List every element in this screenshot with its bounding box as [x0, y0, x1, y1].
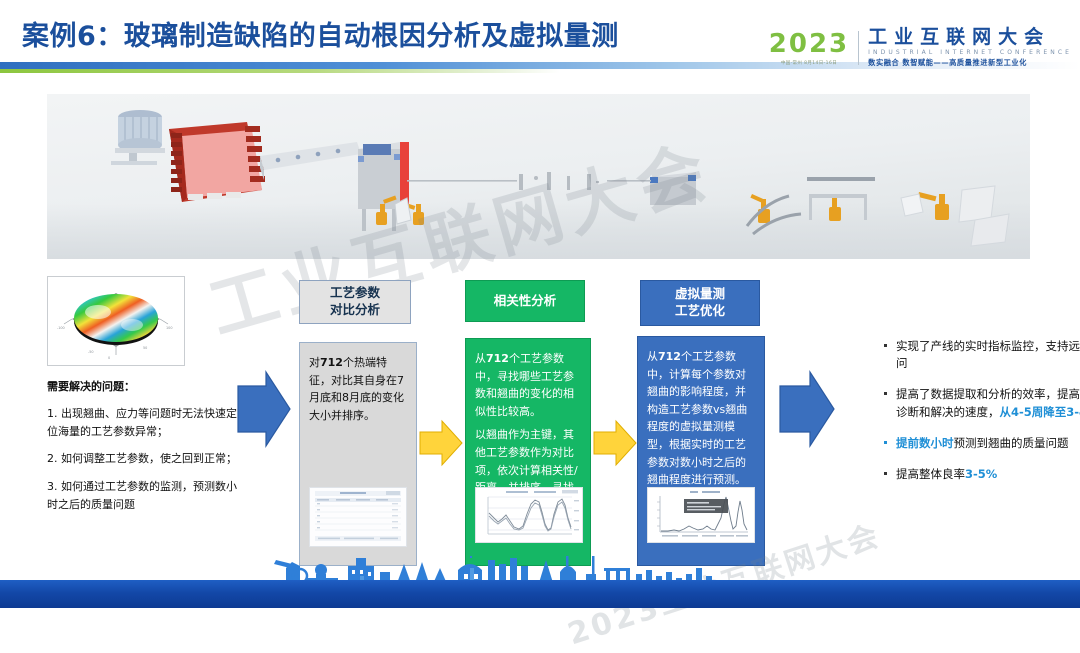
- step3-header: 虚拟量测 工艺优化: [640, 280, 760, 326]
- step1-box: 对712个热端特征，对比其自身在7月底和8月底的变化大小并排序。: [299, 342, 417, 566]
- problem-item-3: 3. 如何通过工艺参数的监测，预测数小时之后的质量问题: [47, 478, 237, 514]
- step1-header: 工艺参数 对比分析: [299, 280, 411, 324]
- step3-text: 从712个工艺参数中，计算每个参数对翘曲的影响程度，并构造工艺参数vs翘曲程度的…: [647, 348, 755, 489]
- result-item-3: 提前数小时预测到翘曲的质量问题: [882, 435, 1080, 453]
- logo-divider: [858, 31, 859, 65]
- arrow-blue-step1: [236, 368, 292, 450]
- footer-wave-band: [0, 580, 1080, 608]
- step2-text-1: 从712个工艺参数中，寻找哪些工艺参数和翘曲的变化的相似性比较高。: [475, 350, 581, 420]
- step2-header: 相关性分析: [465, 280, 585, 322]
- arrow-yellow-step2: [418, 418, 464, 468]
- slide-header: 案例6：玻璃制造缺陷的自动根因分析及虚拟量测 2023 中国·常州 8月14日-…: [0, 0, 1080, 78]
- step1-text: 对712个热端特征，对比其自身在7月底和8月底的变化大小并排序。: [309, 354, 407, 424]
- problem-item-2: 2. 如何调整工艺参数，使之回到正常；: [47, 450, 237, 468]
- header-rule-green: [0, 69, 560, 73]
- logo-tagline: 数实融合 数智赋能——高质量推进新型工业化: [868, 58, 1072, 68]
- logo-text-block: 工业互联网大会 INDUSTRIAL INTERNET CONFERENCE 数…: [868, 28, 1072, 69]
- slide-footer: [0, 556, 1080, 608]
- logo-name-en: INDUSTRIAL INTERNET CONFERENCE: [868, 49, 1072, 56]
- problem-heading: 需要解决的问题：: [47, 378, 237, 396]
- render-artwork: [47, 94, 1030, 259]
- problem-statement: 需要解决的问题： 1. 出现翘曲、应力等问题时无法快速定位海量的工艺参数异常； …: [47, 378, 237, 523]
- svg-text:0: 0: [108, 356, 110, 360]
- conference-logo: 2023 中国·常州 8月14日-16日 工业互联网大会 INDUSTRIAL …: [769, 26, 1072, 70]
- result-accent-3: 提前数小时: [896, 436, 954, 450]
- page-title: 案例6：玻璃制造缺陷的自动根因分析及虚拟量测: [22, 14, 619, 53]
- step2-box: 从712个工艺参数中，寻找哪些工艺参数和翘曲的变化的相似性比较高。 以翘曲作为主…: [465, 338, 591, 566]
- result-accent-2: 从4-5周降至3-4天: [1000, 405, 1080, 419]
- problem-item-1: 1. 出现翘曲、应力等问题时无法快速定位海量的工艺参数异常；: [47, 405, 237, 441]
- svg-text:50: 50: [143, 346, 147, 350]
- step1-table-screenshot: [309, 487, 407, 547]
- result-item-1: 实现了产线的实时指标监控，支持远程访问: [882, 338, 1080, 374]
- result-accent-4: 3-5%: [965, 467, 997, 481]
- svg-text:-50: -50: [88, 350, 94, 354]
- svg-text:-100: -100: [57, 326, 65, 330]
- wafer-warpage-thumbnail: -100-50 050 100: [47, 276, 185, 366]
- result-item-4: 提高整体良率3-5%: [882, 466, 1080, 484]
- result-item-2: 提高了数据提取和分析的效率，提高问题诊断和解决的速度，从4-5周降至3-4天: [882, 386, 1080, 422]
- slide-root: 案例6：玻璃制造缺陷的自动根因分析及虚拟量测 2023 中国·常州 8月14日-…: [0, 0, 1080, 608]
- logo-year-block: 2023 中国·常州 8月14日-16日: [769, 31, 858, 66]
- results-list: 实现了产线的实时指标监控，支持远程访问 提高了数据提取和分析的效率，提高问题诊断…: [842, 338, 1080, 497]
- step3-body: 从712个工艺参数中，计算每个参数对翘曲的影响程度，并构造工艺参数vs翘曲程度的…: [638, 337, 764, 489]
- arrow-blue-results: [778, 368, 836, 450]
- logo-name-cn: 工业互联网大会: [868, 28, 1072, 48]
- svg-text:100: 100: [166, 326, 172, 330]
- factory-render-image: [47, 94, 1030, 259]
- logo-year: 2023: [769, 31, 849, 57]
- logo-year-sub: 中国·常州 8月14日-16日: [781, 60, 837, 66]
- step3-peak-chart: [647, 487, 755, 543]
- arrow-yellow-step3: [592, 418, 638, 468]
- step3-box: 从712个工艺参数中，计算每个参数对翘曲的影响程度，并构造工艺参数vs翘曲程度的…: [637, 336, 765, 566]
- step1-body: 对712个热端特征，对比其自身在7月底和8月底的变化大小并排序。: [300, 343, 416, 424]
- step2-line-chart: [475, 487, 583, 543]
